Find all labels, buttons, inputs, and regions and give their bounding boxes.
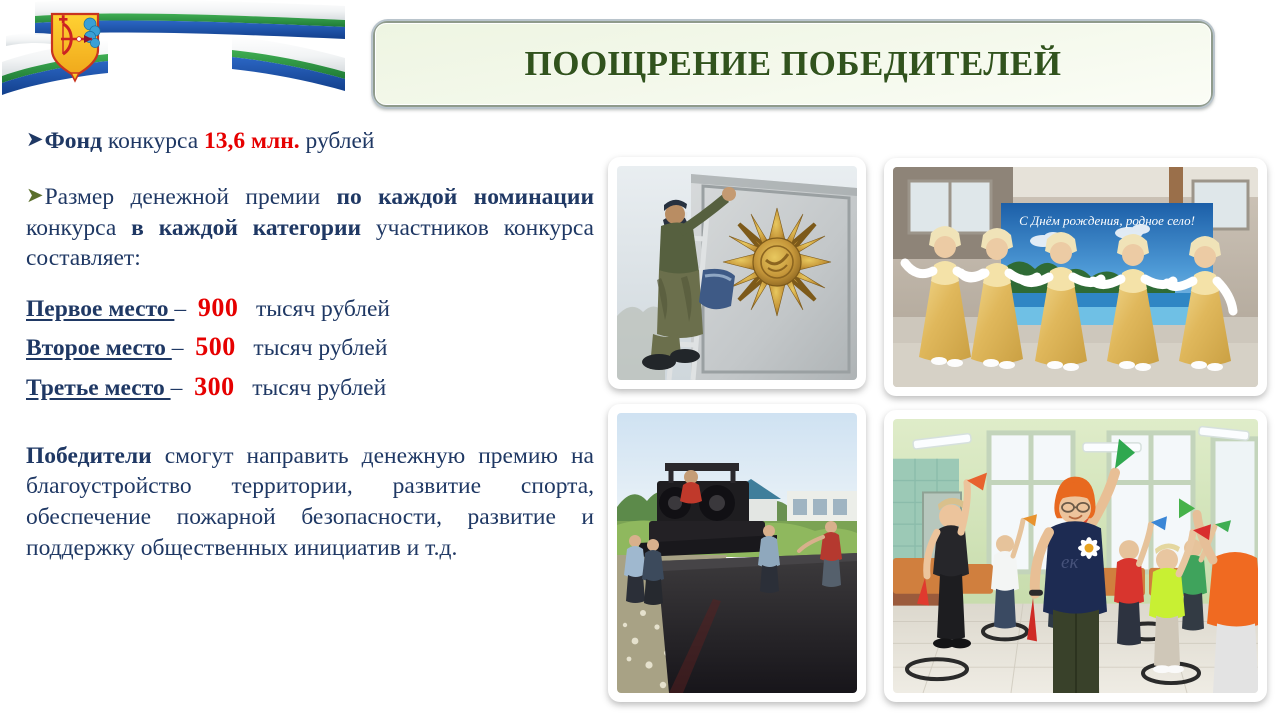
prize-row-second: Второе место – 500 тысяч рублей [26, 327, 594, 367]
prize-row-first: Первое место – 900 тысяч рублей [26, 288, 594, 328]
arrow-bullet-icon: ➤ [26, 185, 44, 206]
photo-war-memorial-restoration [608, 157, 866, 389]
prize-row-third: Третье место – 300 тысяч рублей [26, 367, 594, 407]
left-content-column: ➤Фонд конкурса 13,6 млн. рублей ➤Размер … [26, 126, 594, 563]
kirov-ribbon-emblem [0, 0, 345, 112]
slide-title-box: ПООЩРЕНИЕ ПОБЕДИТЕЛЕЙ [372, 20, 1214, 108]
memorial-illustration [617, 166, 857, 380]
photo-village-birthday-dancers: С Днём рождения, родное село! [884, 158, 1267, 396]
photo-road-asphalt-paving [608, 404, 866, 702]
bullet-item-prize-size: ➤Размер денежной премии по каждой номина… [26, 182, 594, 274]
bullet-item-fund: ➤Фонд конкурса 13,6 млн. рублей [26, 126, 594, 156]
prize-place-label: Первое место [26, 296, 174, 322]
prize-dash: – [171, 375, 189, 401]
prize-amount: 900 [198, 293, 239, 322]
prize-dash: – [174, 296, 192, 322]
prize-dash: – [172, 335, 190, 361]
ribbon-svg [0, 0, 345, 112]
photo-gym-sport-class: ек [884, 410, 1267, 702]
prize-unit: тысяч рублей [250, 296, 390, 322]
bullet-fund-word: Фонд [45, 128, 102, 154]
closing-paragraph: Победители смогут направить денежную пре… [26, 441, 594, 563]
bullet-fund-mid: конкурса [102, 128, 204, 154]
prize-amount: 300 [194, 372, 235, 401]
bullet-fund-amount: 13,6 млн. [204, 128, 300, 154]
bullet-fund-tail: рублей [300, 128, 375, 154]
prize-place-label: Третье место [26, 375, 171, 401]
road-paving-illustration [617, 413, 857, 693]
dancers-illustration: С Днём рождения, родное село! [893, 167, 1258, 387]
shirt-print: ек [1061, 552, 1078, 573]
prize-size-mid: конкурса [26, 215, 131, 241]
page-title: ПООЩРЕНИЕ ПОБЕДИТЕЛЕЙ [525, 44, 1062, 84]
prize-unit: тысяч рублей [248, 335, 388, 361]
banner-text: С Днём рождения, родное село! [1019, 213, 1195, 228]
prize-size-bold-2: в каждой категории [131, 215, 361, 241]
gym-class-illustration: ек [893, 419, 1258, 693]
prize-amount: 500 [195, 332, 236, 361]
prize-unit: тысяч рублей [246, 375, 386, 401]
prize-place-label: Второе место [26, 335, 172, 361]
prize-size-lead: Размер денежной премии [45, 184, 337, 210]
closing-lead-word: Победители [26, 443, 152, 469]
prize-size-bold-1: по каждой номинации [337, 184, 594, 210]
arrow-bullet-icon: ➤ [26, 129, 44, 150]
